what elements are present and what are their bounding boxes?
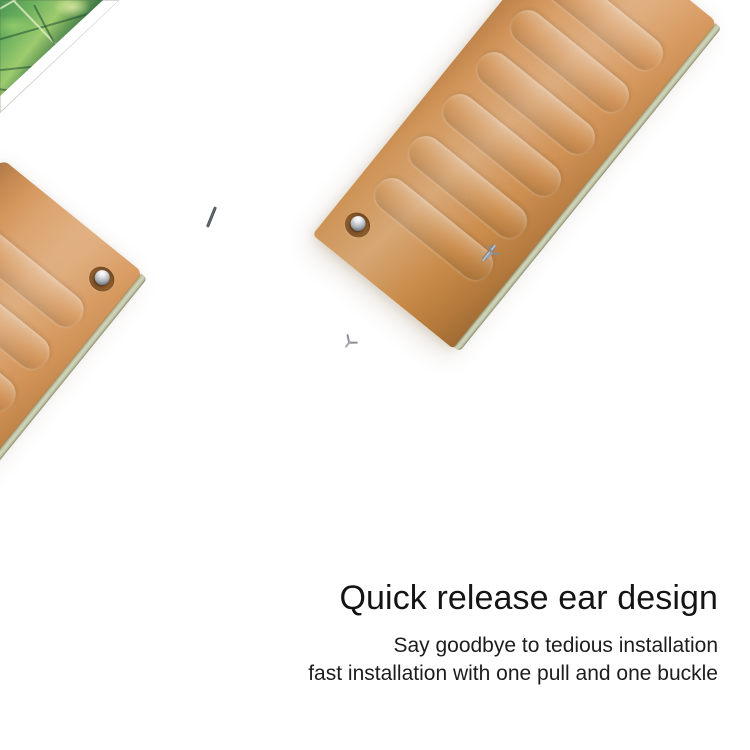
caption-title: Quick release ear design — [308, 578, 718, 618]
upper-watch-band — [312, 0, 718, 349]
lower-band-spring-bar-lever — [339, 333, 360, 353]
leaf-veins — [0, 0, 112, 100]
leaf-print-corner — [0, 0, 112, 100]
lower-band-spring-bar-wire — [206, 206, 217, 228]
product-image-canvas: Quick release ear design Say goodbye to … — [0, 0, 750, 750]
lower-watch-band — [0, 159, 144, 639]
caption-block: Quick release ear design Say goodbye to … — [308, 578, 718, 688]
caption-subtitle-line-1: Say goodbye to tedious installation — [308, 632, 718, 660]
caption-subtitle-line-2: fast installation with one pull and one … — [308, 660, 718, 688]
upper-band-rib-texture — [312, 0, 718, 349]
lower-band-rib-texture — [0, 159, 144, 639]
caption-subtitle: Say goodbye to tedious installation fast… — [308, 632, 718, 688]
